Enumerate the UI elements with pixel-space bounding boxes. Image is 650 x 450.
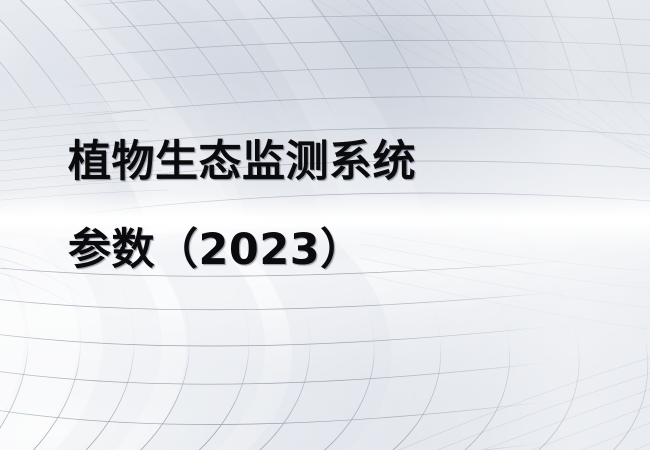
slide-title: 植物生态监测系统 参数（2023） <box>68 118 608 294</box>
slide-title-line-2: 参数（2023） <box>68 206 608 294</box>
slide-title-line-1: 植物生态监测系统 <box>68 118 608 206</box>
title-slide: 植物生态监测系统 参数（2023） <box>0 0 650 450</box>
